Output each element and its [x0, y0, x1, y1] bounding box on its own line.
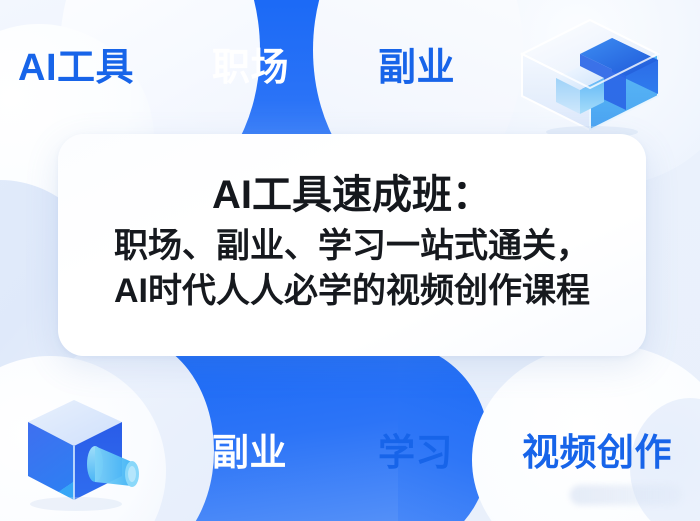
- card-subtitle-line-1: 职场、副业、学习一站式通关，: [114, 224, 590, 269]
- tag-ai-tools[interactable]: AI工具: [18, 36, 134, 91]
- tag-video-creation[interactable]: 视频创作: [522, 422, 672, 476]
- plug-cube-3d-icon: [16, 392, 148, 514]
- glass-cube-3d-icon: [508, 14, 676, 138]
- card-title: AI工具速成班：: [212, 172, 492, 218]
- watermark-smudge: [570, 485, 682, 505]
- tag-side-job-top[interactable]: 副业: [378, 36, 455, 91]
- poster-canvas: AI工具 职场 副业 副业 学习 视频创作 AI工具速成班： 职场、副业、学习一…: [0, 0, 700, 521]
- tag-side-job-bottom[interactable]: 副业: [212, 422, 287, 476]
- card-subtitle-line-2: AI时代人人必学的视频创作课程: [114, 269, 590, 314]
- tag-study[interactable]: 学习: [378, 422, 453, 476]
- course-headline-card: AI工具速成班： 职场、副业、学习一站式通关， AI时代人人必学的视频创作课程: [58, 134, 646, 356]
- tag-workplace[interactable]: 职场: [212, 36, 289, 91]
